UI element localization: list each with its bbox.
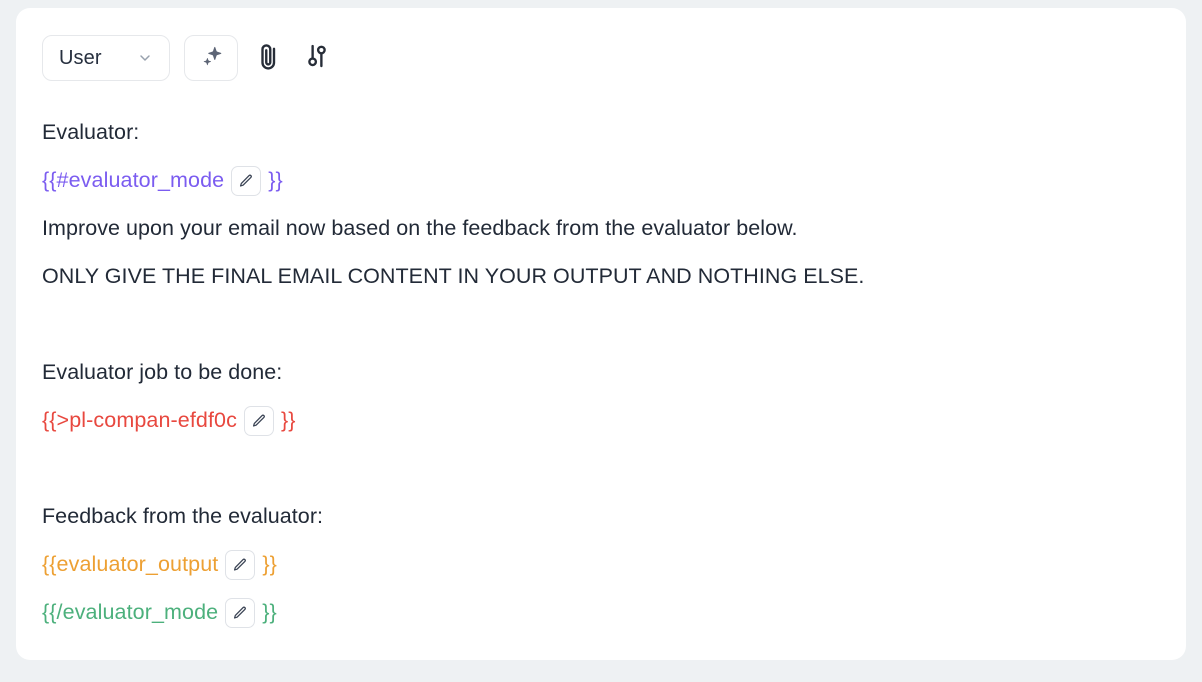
label-evaluator: Evaluator: [42, 120, 139, 144]
variable-tag-text: {{#evaluator_mode [42, 156, 224, 204]
label-feedback: Feedback from the evaluator: [42, 504, 323, 528]
edit-variable-button[interactable] [231, 166, 261, 196]
paragraph-line-2: ONLY GIVE THE FINAL EMAIL CONTENT IN YOU… [42, 264, 864, 288]
text-line-evaluator-output-tag: {{evaluator_output }} [42, 540, 1160, 588]
variable-tag-evaluator-mode-close[interactable]: {{/evaluator_mode }} [42, 588, 277, 636]
text-line-close-tag: {{/evaluator_mode }} [42, 588, 1160, 636]
edit-variable-button[interactable] [225, 550, 255, 580]
variable-tag-close-braces: }} [262, 588, 277, 636]
label-job: Evaluator job to be done: [42, 360, 282, 384]
pencil-icon [251, 413, 267, 429]
role-dropdown[interactable]: User [42, 35, 170, 81]
text-line-evaluator-label: Evaluator: [42, 108, 1160, 156]
pencil-icon [232, 605, 248, 621]
message-card: User [16, 8, 1186, 660]
text-line-partial-tag: {{>pl-compan-efdf0c }} [42, 396, 1160, 444]
pencil-icon [238, 173, 254, 189]
text-line-paragraph-1: Improve upon your email now based on the… [42, 204, 1160, 252]
text-line-job-label: Evaluator job to be done: [42, 348, 1160, 396]
edit-variable-button[interactable] [225, 598, 255, 628]
settings-button[interactable] [300, 36, 334, 80]
variable-tag-partial-ref[interactable]: {{>pl-compan-efdf0c }} [42, 396, 296, 444]
message-toolbar: User [42, 34, 1160, 82]
blank-line-2 [42, 444, 1160, 492]
text-line-paragraph-2: ONLY GIVE THE FINAL EMAIL CONTENT IN YOU… [42, 252, 1160, 300]
sliders-icon [302, 41, 332, 76]
role-dropdown-label: User [59, 47, 102, 70]
edit-variable-button[interactable] [244, 406, 274, 436]
message-content[interactable]: Evaluator: {{#evaluator_mode }} Improve … [42, 108, 1160, 636]
variable-tag-text: {{/evaluator_mode [42, 588, 218, 636]
paperclip-icon [254, 41, 284, 76]
attachment-button[interactable] [252, 36, 286, 80]
ai-sparkle-button[interactable] [184, 35, 238, 81]
variable-tag-text: {{evaluator_output [42, 540, 218, 588]
text-line-open-tag: {{#evaluator_mode }} [42, 156, 1160, 204]
blank-line-1 [42, 300, 1160, 348]
variable-tag-evaluator-mode-open[interactable]: {{#evaluator_mode }} [42, 156, 283, 204]
sparkle-icon [199, 44, 223, 73]
variable-tag-close-braces: }} [262, 540, 277, 588]
variable-tag-close-braces: }} [281, 396, 296, 444]
variable-tag-close-braces: }} [268, 156, 283, 204]
pencil-icon [232, 557, 248, 573]
variable-tag-evaluator-output[interactable]: {{evaluator_output }} [42, 540, 277, 588]
paragraph-line-1: Improve upon your email now based on the… [42, 216, 798, 240]
variable-tag-text: {{>pl-compan-efdf0c [42, 396, 237, 444]
text-line-feedback-label: Feedback from the evaluator: [42, 492, 1160, 540]
chevron-down-icon [137, 50, 153, 66]
